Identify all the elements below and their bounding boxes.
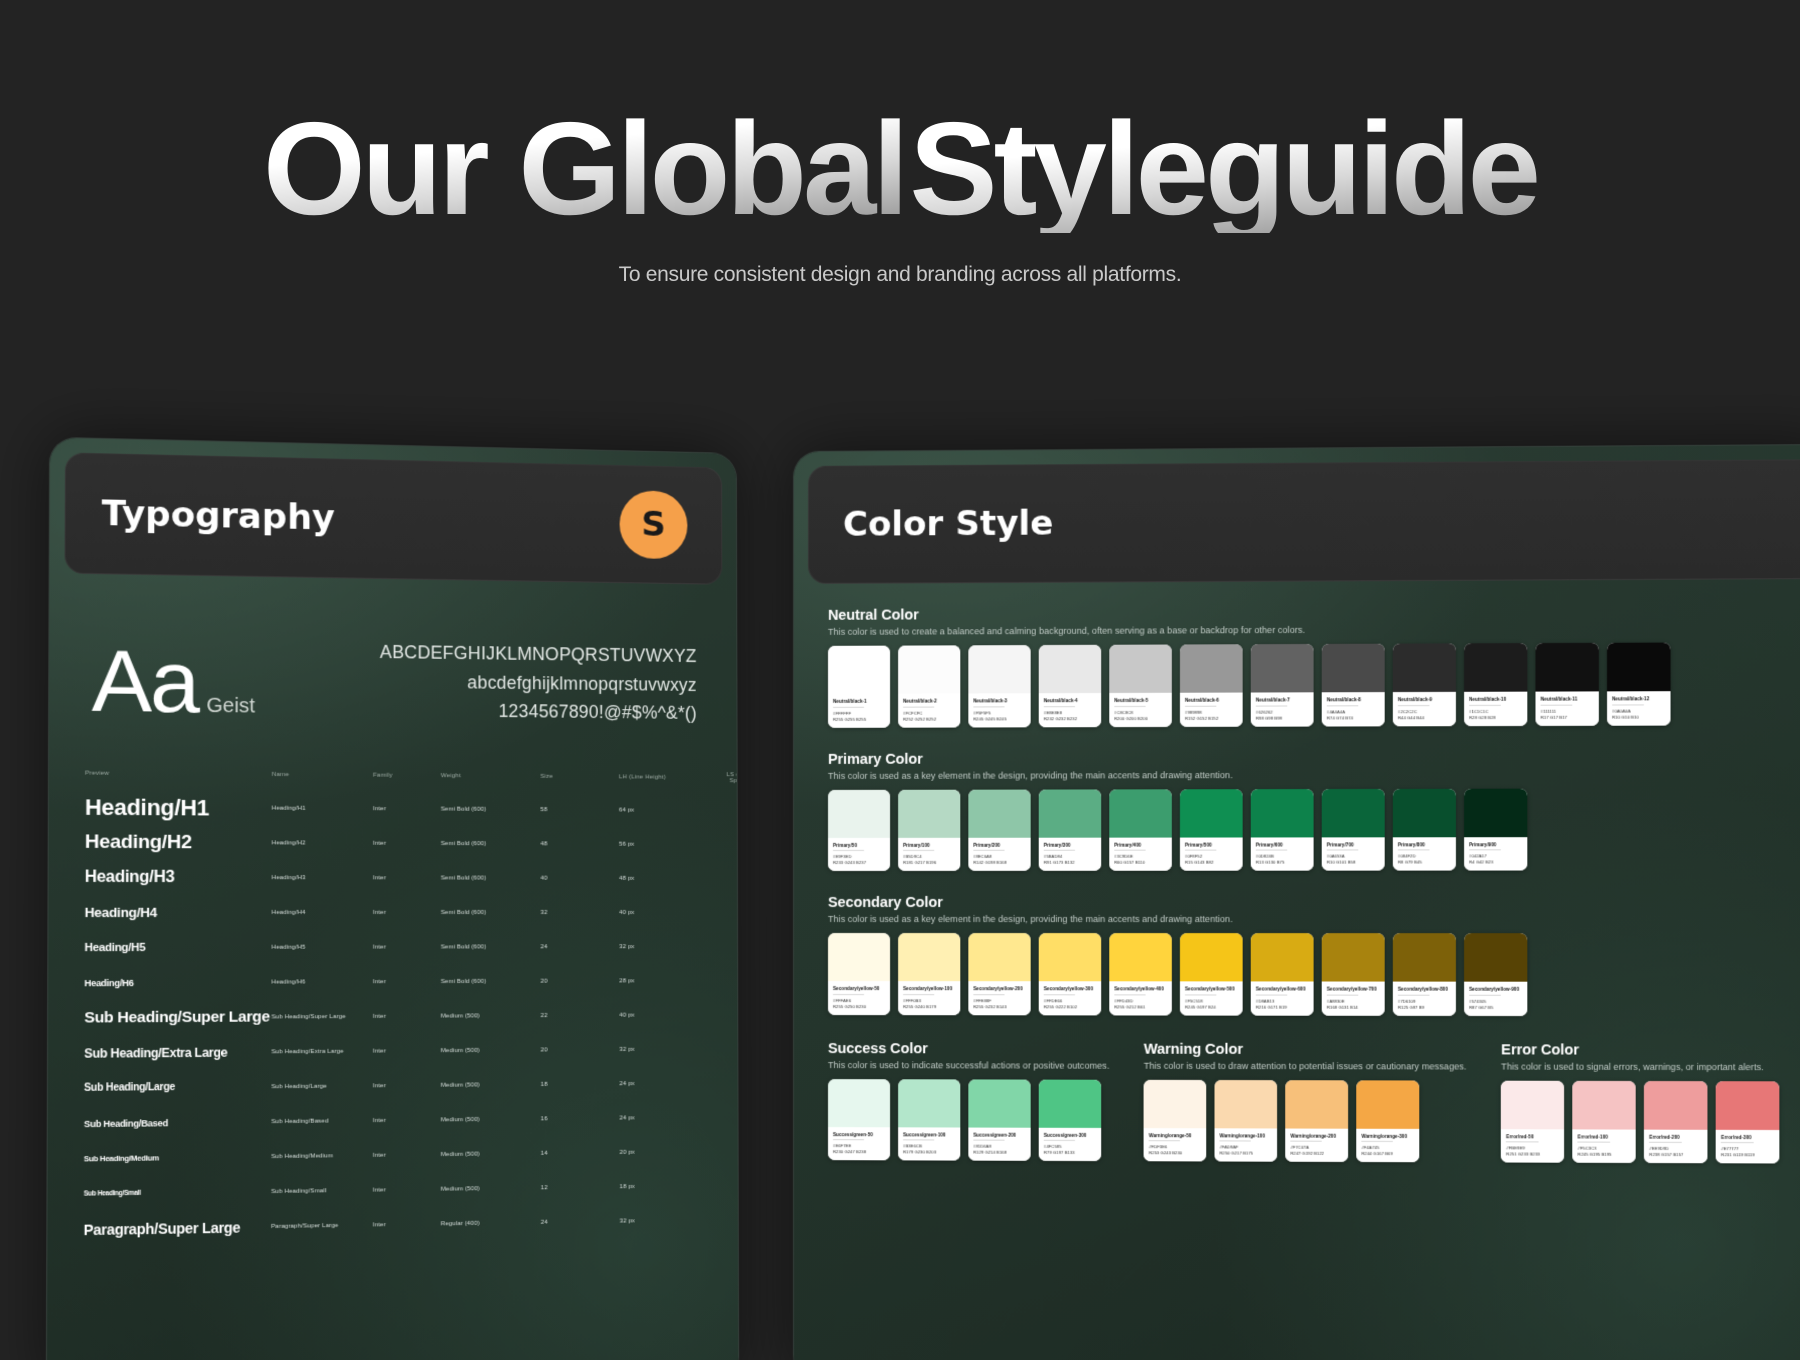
swatch-label: Neutral/black-8 bbox=[1327, 697, 1380, 702]
color-swatch[interactable]: Success/green-200#81D6A8R129 G214 B168 bbox=[968, 1079, 1030, 1161]
swatch-label: Neutral/black-6 bbox=[1185, 698, 1238, 703]
swatch-divider bbox=[1612, 704, 1644, 705]
color-swatch[interactable]: Primary/900#042A17R4 G42 B23 bbox=[1464, 788, 1527, 870]
swatch-hex: #B3E6CB bbox=[903, 1143, 955, 1148]
swatch-chip bbox=[1039, 933, 1101, 981]
row-family: Inter bbox=[373, 1221, 441, 1228]
swatch-meta: Neutral/black-8#4A4A4AR74 G74 B74 bbox=[1322, 692, 1385, 726]
color-swatch[interactable]: Primary/300#5BAD84R91 G173 B132 bbox=[1039, 789, 1101, 871]
row-family: Inter bbox=[373, 1013, 441, 1019]
swatch-row: Error/red-50#FBE9E9R251 G233 B233Error/r… bbox=[1501, 1080, 1780, 1163]
page-title-line-1: Our Global bbox=[263, 104, 905, 233]
row-family: Inter bbox=[373, 1048, 441, 1055]
row-weight: Medium (500) bbox=[441, 1013, 541, 1020]
swatch-divider bbox=[1114, 850, 1145, 851]
swatch-rgb: R8 G79 B45 bbox=[1398, 859, 1451, 864]
color-card-header: Color Style bbox=[808, 459, 1800, 584]
typography-table-rows: Heading/H1Heading/H1InterSemi Bold (600)… bbox=[84, 790, 704, 1247]
row-family: Inter bbox=[373, 875, 441, 881]
swatch-divider bbox=[1649, 1142, 1681, 1143]
swatch-divider bbox=[1290, 1141, 1322, 1142]
row-size: 48 bbox=[540, 841, 619, 847]
swatch-label: Secondary/yellow-800 bbox=[1398, 987, 1451, 992]
swatch-row: Warning/orange-50#FDF3E6R253 G243 B230Wa… bbox=[1144, 1079, 1467, 1162]
swatch-divider bbox=[1398, 705, 1430, 706]
swatch-rgb: R13 G130 B75 bbox=[1256, 860, 1309, 865]
swatch-label: Primary/900 bbox=[1469, 842, 1522, 847]
color-section-desc: This color is used to create a balanced … bbox=[828, 623, 1800, 637]
row-name: Sub Heading/Super Large bbox=[271, 1013, 373, 1020]
color-swatch[interactable]: Neutral/black-5#C8C8C8R200 G200 B200 bbox=[1109, 645, 1172, 727]
swatch-label: Neutral/black-12 bbox=[1612, 696, 1665, 701]
swatch-divider bbox=[1149, 1140, 1181, 1141]
swatch-label: Secondary/yellow-400 bbox=[1114, 986, 1166, 991]
color-swatch[interactable]: Neutral/black-6#989898R152 G152 B152 bbox=[1180, 644, 1243, 726]
swatch-rgb: R79 G197 B133 bbox=[1044, 1150, 1096, 1155]
swatch-rgb: R230 G247 B238 bbox=[833, 1149, 885, 1154]
swatch-hex: #FFFFFF bbox=[833, 710, 885, 715]
row-family: Inter bbox=[373, 1082, 441, 1089]
swatch-chip bbox=[1716, 1081, 1780, 1130]
color-swatch[interactable]: Warning/orange-200#F7C07AR247 G192 B122 bbox=[1285, 1080, 1348, 1162]
swatch-rgb: R125 G97 B9 bbox=[1398, 1004, 1451, 1009]
swatch-label: Secondary/yellow-700 bbox=[1327, 987, 1380, 992]
color-swatch[interactable]: Secondary/yellow-500#F5C518R245 G197 B24 bbox=[1180, 933, 1243, 1015]
specimen-font-name: Geist bbox=[206, 695, 255, 718]
swatch-hex: #FFF0B3 bbox=[903, 998, 955, 1003]
row-letter-spacing: -1% bbox=[705, 944, 739, 950]
swatch-label: Neutral/black-4 bbox=[1044, 698, 1096, 703]
swatch-hex: #0F8F52 bbox=[1185, 854, 1238, 859]
table-row: Heading/H5Heading/H5InterSemi Bold (600)… bbox=[84, 930, 703, 966]
color-swatch[interactable]: Secondary/yellow-800#7D6109R125 G97 B9 bbox=[1393, 933, 1456, 1015]
row-weight: Semi Bold (600) bbox=[441, 806, 541, 813]
swatch-divider bbox=[1721, 1142, 1753, 1143]
row-size: 20 bbox=[541, 1046, 620, 1053]
row-size: 12 bbox=[541, 1184, 620, 1191]
typography-table: Preview Name Family Weight Size LH (Line… bbox=[84, 767, 704, 1247]
typography-card-title: Typography bbox=[102, 493, 335, 538]
swatch-rgb: R233 G243 B237 bbox=[833, 860, 885, 865]
table-row: Heading/H6Heading/H6InterSemi Bold (600)… bbox=[84, 964, 703, 1001]
row-size: 24 bbox=[541, 1218, 620, 1225]
row-weight: Regular (400) bbox=[441, 1219, 541, 1227]
swatch-hex: #FFDE66 bbox=[1044, 998, 1096, 1003]
swatch-chip bbox=[1251, 789, 1314, 837]
swatch-meta: Success/green-100#B3E6CBR179 G230 B203 bbox=[898, 1127, 960, 1161]
swatch-meta: Success/green-300#4FC585R79 G197 B133 bbox=[1039, 1127, 1101, 1161]
color-swatch[interactable]: Neutral/black-7#626262R98 G98 B98 bbox=[1251, 644, 1314, 726]
row-name: Heading/H5 bbox=[271, 944, 372, 950]
charset-numerals: 1234567890!@#$%^&*() bbox=[380, 696, 697, 728]
color-section: Error ColorThis color is used to signal … bbox=[1501, 1042, 1780, 1164]
table-row: Heading/H3Heading/H3InterSemi Bold (600)… bbox=[85, 860, 703, 896]
row-size: 58 bbox=[540, 807, 619, 813]
color-swatch[interactable]: Neutral/black-9#2C2C2CR44 G44 B44 bbox=[1393, 643, 1456, 725]
swatch-hex: #81D6A8 bbox=[973, 1144, 1025, 1149]
swatch-divider bbox=[1185, 994, 1217, 995]
row-size: 18 bbox=[541, 1081, 620, 1088]
swatch-chip bbox=[1039, 789, 1101, 837]
swatch-hex: #FFFAE6 bbox=[833, 998, 885, 1003]
swatch-label: Neutral/black-10 bbox=[1469, 697, 1522, 702]
swatch-label: Neutral/black-7 bbox=[1256, 697, 1309, 702]
font-specimen: AaGeist ABCDEFGHIJKLMNOPQRSTUVWXYZ abcde… bbox=[85, 574, 703, 728]
swatch-divider bbox=[1114, 994, 1145, 995]
table-row: Sub Heading/LargeSub Heading/LargeInterM… bbox=[84, 1066, 704, 1106]
swatch-chip bbox=[1285, 1080, 1348, 1129]
swatch-meta: Secondary/yellow-500#F5C518R245 G197 B24 bbox=[1180, 981, 1243, 1015]
swatch-chip bbox=[1464, 933, 1527, 982]
color-swatch[interactable]: Success/green-300#4FC585R79 G197 B133 bbox=[1039, 1079, 1101, 1161]
page-subtitle: To ensure consistent design and branding… bbox=[0, 263, 1800, 287]
row-preview: Sub Heading/Extra Large bbox=[84, 1045, 271, 1061]
swatch-chip bbox=[1501, 1080, 1564, 1129]
row-letter-spacing: -0.5% bbox=[706, 1080, 740, 1086]
swatch-meta: Neutral/black-3#F5F5F5R245 G245 B245 bbox=[968, 693, 1030, 727]
swatch-meta: Secondary/yellow-300#FFDE66R255 G222 B10… bbox=[1039, 981, 1101, 1015]
swatch-rgb: R152 G152 B152 bbox=[1185, 715, 1238, 720]
color-card-title: Color Style bbox=[843, 503, 1053, 544]
hero-section: Our Global Styleguide To ensure consiste… bbox=[0, 0, 1800, 287]
row-weight: Medium (500) bbox=[441, 1047, 541, 1054]
swatch-chip bbox=[968, 789, 1030, 837]
swatch-rgb: R17 G17 B17 bbox=[1541, 714, 1594, 719]
swatch-divider bbox=[973, 994, 1004, 995]
swatch-chip bbox=[828, 933, 890, 981]
swatch-label: Secondary/yellow-100 bbox=[903, 986, 955, 991]
swatch-chip bbox=[1573, 1080, 1636, 1129]
row-weight: Medium (500) bbox=[441, 1081, 541, 1088]
swatch-divider bbox=[1114, 705, 1145, 706]
swatch-rgb: R15 G143 B82 bbox=[1185, 860, 1238, 865]
swatch-label: Primary/500 bbox=[1185, 842, 1238, 847]
swatch-rgb: R179 G230 B203 bbox=[903, 1149, 955, 1154]
swatch-label: Secondary/yellow-300 bbox=[1044, 986, 1096, 991]
row-line-height: 24 px bbox=[619, 1114, 705, 1121]
row-preview: Sub Heading/Medium bbox=[84, 1152, 271, 1164]
row-preview: Sub Heading/Super Large bbox=[84, 1008, 271, 1026]
specimen-sample: Aa bbox=[92, 632, 199, 732]
color-swatch[interactable]: Secondary/yellow-200#FFE88FR255 G232 B14… bbox=[968, 933, 1030, 1015]
swatch-divider bbox=[1398, 849, 1430, 850]
swatch-rgb: R98 G98 B98 bbox=[1256, 715, 1309, 720]
swatch-chip bbox=[898, 933, 960, 981]
color-swatch[interactable]: Error/red-200#EE9D9DR238 G157 B157 bbox=[1644, 1081, 1708, 1164]
swatch-rgb: R255 G240 B179 bbox=[903, 1004, 955, 1009]
charset-block: ABCDEFGHIJKLMNOPQRSTUVWXYZ abcdefghijklm… bbox=[380, 638, 697, 728]
color-swatch[interactable]: Secondary/yellow-600#D8AB13R216 G171 B19 bbox=[1251, 933, 1314, 1015]
swatch-meta: Secondary/yellow-800#7D6109R125 G97 B9 bbox=[1393, 982, 1456, 1016]
color-swatch[interactable]: Neutral/black-4#E8E8E8R232 G232 B232 bbox=[1039, 645, 1101, 727]
color-section-column: Warning ColorThis color is used to draw … bbox=[1144, 1041, 1467, 1162]
swatch-meta: Neutral/black-12#0A0A0AR10 G10 B10 bbox=[1607, 691, 1670, 725]
swatch-divider bbox=[1044, 1140, 1075, 1141]
row-preview: Sub Heading/Large bbox=[84, 1081, 271, 1094]
swatch-chip bbox=[828, 646, 890, 694]
swatch-rgb: R253 G243 B230 bbox=[1149, 1150, 1202, 1155]
swatch-divider bbox=[833, 994, 864, 995]
color-swatch[interactable]: Primary/800#084F2DR8 G79 B45 bbox=[1393, 788, 1456, 870]
swatch-hex: #E8E8E8 bbox=[1044, 710, 1096, 715]
swatch-rgb: R10 G10 B10 bbox=[1612, 714, 1665, 719]
swatch-chip bbox=[1251, 933, 1314, 981]
row-family: Inter bbox=[373, 1117, 441, 1124]
row-preview: Heading/H5 bbox=[84, 941, 271, 954]
color-swatch[interactable]: Neutral/black-1#FFFFFFR255 G255 B255 bbox=[828, 646, 890, 728]
col-header-size: Size bbox=[540, 773, 619, 780]
swatch-rgb: R28 G28 B28 bbox=[1469, 714, 1522, 719]
row-line-height: 20 px bbox=[620, 1148, 706, 1155]
swatch-hex: #FBE9E9 bbox=[1506, 1145, 1559, 1150]
swatch-chip bbox=[1607, 643, 1670, 692]
swatch-rgb: R74 G74 B74 bbox=[1327, 715, 1380, 720]
color-swatch[interactable]: Primary/500#0F8F52R15 G143 B82 bbox=[1180, 789, 1243, 871]
swatch-meta: Success/green-200#81D6A8R129 G214 B168 bbox=[968, 1127, 1030, 1161]
swatch-hex: #0A0A0A bbox=[1612, 708, 1665, 713]
swatch-meta: Secondary/yellow-400#FFD43DR255 G212 B61 bbox=[1109, 981, 1172, 1015]
swatch-label: Warning/orange-300 bbox=[1362, 1133, 1415, 1138]
row-weight: Medium (500) bbox=[441, 1185, 541, 1192]
row-weight: Medium (500) bbox=[441, 1150, 541, 1157]
swatch-label: Error/red-300 bbox=[1721, 1134, 1774, 1139]
swatch-divider bbox=[1044, 706, 1075, 707]
color-section-title: Primary Color bbox=[828, 749, 1800, 767]
color-swatch[interactable]: Warning/orange-300#F4A745R244 G167 B69 bbox=[1356, 1080, 1419, 1162]
swatch-chip bbox=[1322, 788, 1385, 836]
swatch-rgb: R255 G255 B255 bbox=[833, 716, 885, 721]
color-swatch[interactable]: Neutral/black-10#1C1C1CR28 G28 B28 bbox=[1464, 643, 1527, 726]
color-section-title: Neutral Color bbox=[828, 603, 1800, 624]
swatch-hex: #FFE88F bbox=[973, 998, 1025, 1003]
swatch-meta: Secondary/yellow-900#574305R87 G67 B5 bbox=[1464, 982, 1527, 1016]
typography-card-body: AaGeist ABCDEFGHIJKLMNOPQRSTUVWXYZ abcde… bbox=[47, 573, 737, 1247]
color-swatch[interactable]: Secondary/yellow-900#574305R87 G67 B5 bbox=[1464, 933, 1527, 1015]
swatch-label: Neutral/black-3 bbox=[973, 698, 1025, 703]
color-swatch[interactable]: Error/red-300#E77777R231 G119 B119 bbox=[1716, 1081, 1780, 1164]
swatch-divider bbox=[1469, 994, 1501, 995]
brand-badge-letter: S bbox=[641, 505, 666, 545]
color-swatch[interactable]: Secondary/yellow-700#A8830ER168 G131 B14 bbox=[1322, 933, 1385, 1015]
swatch-label: Secondary/yellow-900 bbox=[1469, 987, 1522, 992]
swatch-label: Neutral/black-9 bbox=[1398, 697, 1451, 702]
row-line-height: 32 px bbox=[620, 1217, 706, 1224]
color-swatch[interactable]: Success/green-50#E6F7EER230 G247 B238 bbox=[828, 1079, 890, 1161]
row-preview: Heading/H1 bbox=[85, 794, 272, 822]
color-swatch[interactable]: Secondary/yellow-50#FFFAE6R255 G250 B230 bbox=[828, 933, 890, 1015]
color-swatch[interactable]: Primary/50#E9F3EDR233 G243 B237 bbox=[828, 789, 890, 871]
col-header-preview: Preview bbox=[85, 770, 272, 777]
swatch-meta: Error/red-300#E77777R231 G119 B119 bbox=[1716, 1129, 1780, 1163]
swatch-divider bbox=[1256, 994, 1288, 995]
color-section-title: Error Color bbox=[1501, 1042, 1780, 1059]
row-line-height: 18 px bbox=[620, 1183, 706, 1190]
color-section-title: Warning Color bbox=[1144, 1041, 1467, 1058]
color-swatch[interactable]: Secondary/yellow-300#FFDE66R255 G222 B10… bbox=[1039, 933, 1101, 1015]
swatch-meta: Secondary/yellow-50#FFFAE6R255 G250 B230 bbox=[828, 981, 890, 1015]
swatch-hex: #626262 bbox=[1256, 709, 1309, 714]
row-preview: Paragraph/Super Large bbox=[84, 1218, 271, 1237]
charset-lowercase: abcdefghijklmnopqrstuvwxyz bbox=[380, 667, 697, 699]
swatch-rgb: R244 G167 B69 bbox=[1362, 1151, 1415, 1156]
swatch-chip bbox=[1180, 789, 1243, 837]
color-swatch[interactable]: Primary/200#8EC6A8R142 G198 B168 bbox=[968, 789, 1030, 871]
swatch-rgb: R91 G173 B132 bbox=[1044, 860, 1096, 865]
swatch-hex: #042A17 bbox=[1469, 853, 1522, 858]
swatch-divider bbox=[1398, 994, 1430, 995]
row-line-height: 24 px bbox=[619, 1080, 705, 1087]
swatch-chip bbox=[1393, 933, 1456, 981]
swatch-label: Primary/800 bbox=[1398, 842, 1451, 847]
typography-card-header: Typography S bbox=[65, 452, 723, 584]
swatch-divider bbox=[903, 706, 934, 707]
row-line-height: 48 px bbox=[619, 875, 705, 881]
swatch-chip bbox=[1109, 933, 1172, 981]
swatch-hex: #F5C3C3 bbox=[1578, 1146, 1631, 1151]
color-section-desc: This color is used to indicate successfu… bbox=[828, 1060, 1109, 1071]
swatch-divider bbox=[1044, 850, 1075, 851]
row-line-height: 64 px bbox=[619, 807, 705, 813]
swatch-meta: Neutral/black-1#FFFFFFR255 G255 B255 bbox=[828, 694, 890, 728]
swatch-chip bbox=[1464, 643, 1527, 692]
swatch-meta: Primary/500#0F8F52R15 G143 B82 bbox=[1180, 837, 1243, 871]
swatch-label: Secondary/yellow-500 bbox=[1185, 986, 1238, 991]
color-swatch[interactable]: Neutral/black-11#111111R17 G17 B17 bbox=[1535, 643, 1598, 726]
color-swatch[interactable]: Neutral/black-2#FCFCFCR252 G252 B252 bbox=[898, 645, 960, 727]
row-name: Sub Heading/Based bbox=[271, 1118, 373, 1125]
color-swatch[interactable]: Primary/700#0A653AR10 G101 B58 bbox=[1322, 788, 1385, 870]
color-swatch[interactable]: Neutral/black-12#0A0A0AR10 G10 B10 bbox=[1607, 643, 1670, 726]
swatch-divider bbox=[1256, 850, 1288, 851]
swatch-divider bbox=[1327, 994, 1359, 995]
color-swatch[interactable]: Primary/400#3C9D6ER60 G157 B110 bbox=[1109, 789, 1172, 871]
color-swatch[interactable]: Success/green-100#B3E6CBR179 G230 B203 bbox=[898, 1079, 960, 1161]
swatch-rgb: R181 G217 B196 bbox=[903, 860, 955, 865]
row-weight: Semi Bold (600) bbox=[441, 840, 541, 846]
swatch-hex: #A8830E bbox=[1327, 998, 1380, 1003]
swatch-meta: Primary/600#0D824BR13 G130 B75 bbox=[1251, 837, 1314, 871]
swatch-meta: Warning/orange-100#FAD9AFR250 G217 B175 bbox=[1215, 1128, 1278, 1162]
row-family: Inter bbox=[373, 806, 441, 812]
swatch-hex: #111111 bbox=[1541, 708, 1594, 713]
swatch-chip bbox=[1322, 933, 1385, 981]
row-line-height: 56 px bbox=[619, 841, 705, 847]
swatch-divider bbox=[973, 706, 1004, 707]
row-family: Inter bbox=[373, 944, 441, 950]
swatch-hex: #7D6109 bbox=[1398, 998, 1451, 1003]
swatch-divider bbox=[903, 1139, 934, 1140]
color-swatch[interactable]: Primary/100#B5D9C4R181 G217 B196 bbox=[898, 789, 960, 871]
swatch-meta: Primary/400#3C9D6ER60 G157 B110 bbox=[1109, 837, 1172, 871]
color-section-title: Success Color bbox=[828, 1041, 1109, 1058]
color-swatch[interactable]: Secondary/yellow-400#FFD43DR255 G212 B61 bbox=[1109, 933, 1172, 1015]
swatch-label: Success/green-100 bbox=[903, 1132, 955, 1137]
swatch-divider bbox=[903, 850, 934, 851]
swatch-divider bbox=[1578, 1142, 1610, 1143]
swatch-chip bbox=[898, 789, 960, 837]
color-swatch[interactable]: Error/red-100#F5C3C3R245 G195 B195 bbox=[1573, 1080, 1636, 1163]
table-row: Sub Heading/Super LargeSub Heading/Super… bbox=[84, 998, 703, 1036]
swatch-rgb: R44 G44 B44 bbox=[1398, 715, 1451, 720]
swatch-chip bbox=[1180, 933, 1243, 981]
swatch-hex: #0A653A bbox=[1327, 853, 1380, 858]
swatch-hex: #F5C518 bbox=[1185, 998, 1238, 1003]
swatch-label: Primary/300 bbox=[1044, 842, 1096, 847]
swatch-divider bbox=[1362, 1141, 1394, 1142]
swatch-rgb: R245 G197 B24 bbox=[1185, 1004, 1238, 1009]
swatch-meta: Secondary/yellow-100#FFF0B3R255 G240 B17… bbox=[898, 981, 960, 1015]
swatch-rgb: R245 G245 B245 bbox=[973, 716, 1025, 721]
color-section-desc: This color is used to draw attention to … bbox=[1144, 1060, 1467, 1071]
row-name: Sub Heading/Extra Large bbox=[271, 1048, 373, 1055]
swatch-meta: Secondary/yellow-700#A8830ER168 G131 B14 bbox=[1322, 982, 1385, 1016]
swatch-label: Neutral/black-11 bbox=[1541, 696, 1594, 701]
swatch-label: Neutral/black-1 bbox=[833, 699, 885, 704]
row-size: 32 bbox=[540, 909, 619, 915]
swatch-row: Success/green-50#E6F7EER230 G247 B238Suc… bbox=[828, 1079, 1109, 1162]
row-size: 24 bbox=[541, 944, 620, 950]
color-swatch[interactable]: Primary/600#0D824BR13 G130 B75 bbox=[1251, 789, 1314, 871]
swatch-divider bbox=[833, 706, 864, 707]
color-section: Neutral ColorThis color is used to creat… bbox=[828, 603, 1800, 727]
color-swatch[interactable]: Error/red-50#FBE9E9R251 G233 B233 bbox=[1501, 1080, 1564, 1163]
swatch-hex: #2C2C2C bbox=[1398, 709, 1451, 714]
swatch-divider bbox=[833, 850, 864, 851]
swatch-rgb: R255 G222 B102 bbox=[1044, 1004, 1096, 1009]
swatch-divider bbox=[1185, 850, 1217, 851]
row-family: Inter bbox=[373, 840, 441, 846]
row-name: Heading/H1 bbox=[272, 805, 373, 812]
swatch-chip bbox=[1039, 1079, 1101, 1127]
swatch-hex: #3C9D6E bbox=[1114, 854, 1166, 859]
swatch-chip bbox=[1393, 643, 1456, 692]
color-swatch[interactable]: Warning/orange-100#FAD9AFR250 G217 B175 bbox=[1215, 1079, 1278, 1161]
swatch-meta: Neutral/black-4#E8E8E8R232 G232 B232 bbox=[1039, 693, 1101, 727]
swatch-meta: Neutral/black-5#C8C8C8R200 G200 B200 bbox=[1109, 693, 1172, 727]
swatch-meta: Neutral/black-2#FCFCFCR252 G252 B252 bbox=[898, 693, 960, 727]
row-line-height: 32 px bbox=[619, 944, 705, 950]
swatch-divider bbox=[1541, 704, 1573, 705]
swatch-meta: Primary/900#042A17R4 G42 B23 bbox=[1464, 837, 1527, 871]
swatch-label: Success/green-200 bbox=[973, 1132, 1025, 1137]
color-swatch[interactable]: Warning/orange-50#FDF3E6R253 G243 B230 bbox=[1144, 1079, 1207, 1161]
row-letter-spacing: 0% bbox=[706, 1182, 739, 1189]
row-family: Inter bbox=[373, 909, 441, 915]
swatch-chip bbox=[1109, 645, 1172, 693]
swatch-label: Warning/orange-50 bbox=[1149, 1133, 1202, 1138]
swatch-chip bbox=[968, 1079, 1030, 1127]
swatch-label: Neutral/black-5 bbox=[1114, 698, 1166, 703]
swatch-rgb: R4 G42 B23 bbox=[1469, 859, 1522, 864]
swatch-divider bbox=[1185, 705, 1217, 706]
col-header-family: Family bbox=[373, 772, 441, 779]
row-name: Sub Heading/Large bbox=[271, 1083, 373, 1090]
swatch-label: Secondary/yellow-200 bbox=[973, 986, 1025, 991]
swatch-label: Error/red-200 bbox=[1649, 1134, 1702, 1139]
table-row: Heading/H4Heading/H4InterSemi Bold (600)… bbox=[85, 895, 704, 930]
color-swatch[interactable]: Secondary/yellow-100#FFF0B3R255 G240 B17… bbox=[898, 933, 960, 1015]
color-swatch[interactable]: Neutral/black-8#4A4A4AR74 G74 B74 bbox=[1322, 644, 1385, 726]
swatch-rgb: R60 G157 B110 bbox=[1114, 860, 1166, 865]
color-section: Primary ColorThis color is used as a key… bbox=[828, 749, 1800, 871]
color-section-desc: This color is used as a key element in t… bbox=[828, 914, 1800, 924]
swatch-rgb: R10 G101 B58 bbox=[1327, 860, 1380, 865]
swatch-label: Error/red-100 bbox=[1578, 1134, 1631, 1139]
swatch-hex: #4A4A4A bbox=[1327, 709, 1380, 714]
swatch-divider bbox=[1469, 849, 1501, 850]
color-swatch[interactable]: Neutral/black-3#F5F5F5R245 G245 B245 bbox=[968, 645, 1030, 727]
row-letter-spacing: 0% bbox=[706, 1114, 740, 1121]
